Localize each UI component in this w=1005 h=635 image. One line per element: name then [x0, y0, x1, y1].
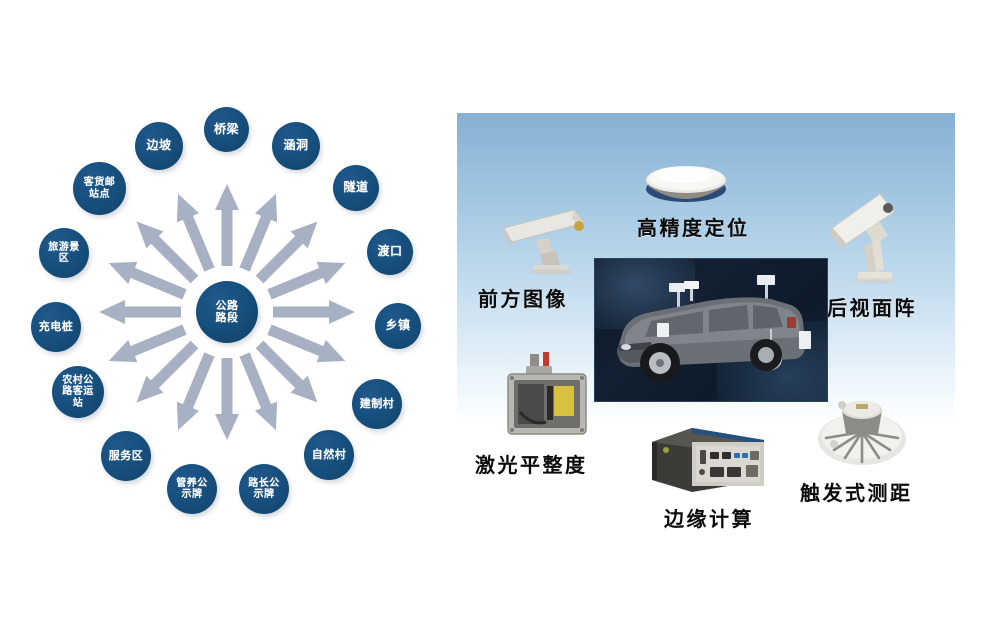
edge-computer-icon: [648, 424, 768, 496]
radial-diagram: 公路 路段 桥梁 涵洞 隧道 渡口 乡镇 建制村 自然村 路长公示牌: [0, 0, 455, 635]
radial-arrow: [273, 300, 355, 324]
center-node-label: 公路 路段: [214, 300, 241, 325]
slide-canvas: 公路 路段 桥梁 涵洞 隧道 渡口 乡镇 建制村 自然村 路长公示牌: [0, 0, 1005, 635]
node-chongdianzhuang[interactable]: 充电桩: [31, 302, 81, 352]
pan-tilt-camera-icon: [496, 198, 596, 276]
radial-arrow: [99, 300, 181, 324]
node-nongcun-keyunzhan[interactable]: 农村公路客运站: [52, 366, 104, 418]
rear-array-camera-label: 后视面阵: [827, 292, 917, 321]
gnss-antenna-icon: [636, 158, 736, 208]
node-jianzhicun-label: 建制村: [358, 398, 397, 410]
node-xiangzhen[interactable]: 乡镇: [375, 303, 421, 349]
node-guanyang-gongshipai[interactable]: 管养公示牌: [167, 464, 217, 514]
node-bianpo-label: 边坡: [144, 139, 173, 152]
node-fuwuqu[interactable]: 服务区: [101, 431, 151, 481]
node-kehuoyou-zhandian-label: 客货邮站点: [82, 177, 118, 199]
survey-vehicle-image: [594, 258, 828, 402]
node-suidao[interactable]: 隧道: [333, 165, 379, 211]
node-dukou-label: 渡口: [375, 245, 404, 258]
node-lvyou-jingqu[interactable]: 旅游景区: [39, 228, 89, 278]
node-luzhang-gongshipai[interactable]: 路长公示牌: [239, 464, 289, 514]
pan-tilt-camera-label: 前方图像: [478, 283, 568, 312]
radial-arrow: [215, 184, 239, 266]
node-zirancun[interactable]: 自然村: [304, 430, 354, 480]
node-luzhang-gongshipai-label: 路长公示牌: [246, 478, 282, 500]
survey-vehicle-drawing: [595, 259, 827, 401]
node-suidao-label: 隧道: [341, 181, 370, 194]
node-lvyou-jingqu-label: 旅游景区: [46, 242, 82, 264]
node-chongdianzhuang-label: 充电桩: [37, 321, 76, 333]
node-zirancun-label: 自然村: [310, 449, 349, 461]
node-jianzhicun[interactable]: 建制村: [352, 379, 402, 429]
node-handong[interactable]: 涵洞: [272, 122, 320, 170]
node-nongcun-keyunzhan-label: 农村公路客运站: [60, 375, 96, 409]
node-guanyang-gongshipai-label: 管养公示牌: [174, 478, 210, 500]
laser-profiler-label: 激光平整度: [475, 449, 588, 478]
node-fuwuqu-label: 服务区: [107, 450, 146, 462]
node-xiangzhen-label: 乡镇: [383, 319, 412, 332]
node-bianpo[interactable]: 边坡: [135, 122, 183, 170]
rear-array-camera-icon: [818, 186, 918, 286]
edge-computer-label: 边缘计算: [664, 503, 754, 532]
laser-profiler-icon: [502, 350, 594, 440]
node-dukou[interactable]: 渡口: [367, 229, 413, 275]
radial-arrow: [215, 358, 239, 440]
trigger-rangefinder-label: 触发式测距: [800, 477, 913, 506]
node-kehuoyou-zhandian[interactable]: 客货邮站点: [73, 162, 126, 215]
node-qiaoliang-label: 桥梁: [212, 123, 241, 136]
center-node-road-section[interactable]: 公路 路段: [196, 281, 258, 343]
node-qiaoliang[interactable]: 桥梁: [204, 107, 249, 152]
node-handong-label: 涵洞: [281, 139, 310, 152]
gnss-antenna-label: 高精度定位: [637, 212, 750, 241]
